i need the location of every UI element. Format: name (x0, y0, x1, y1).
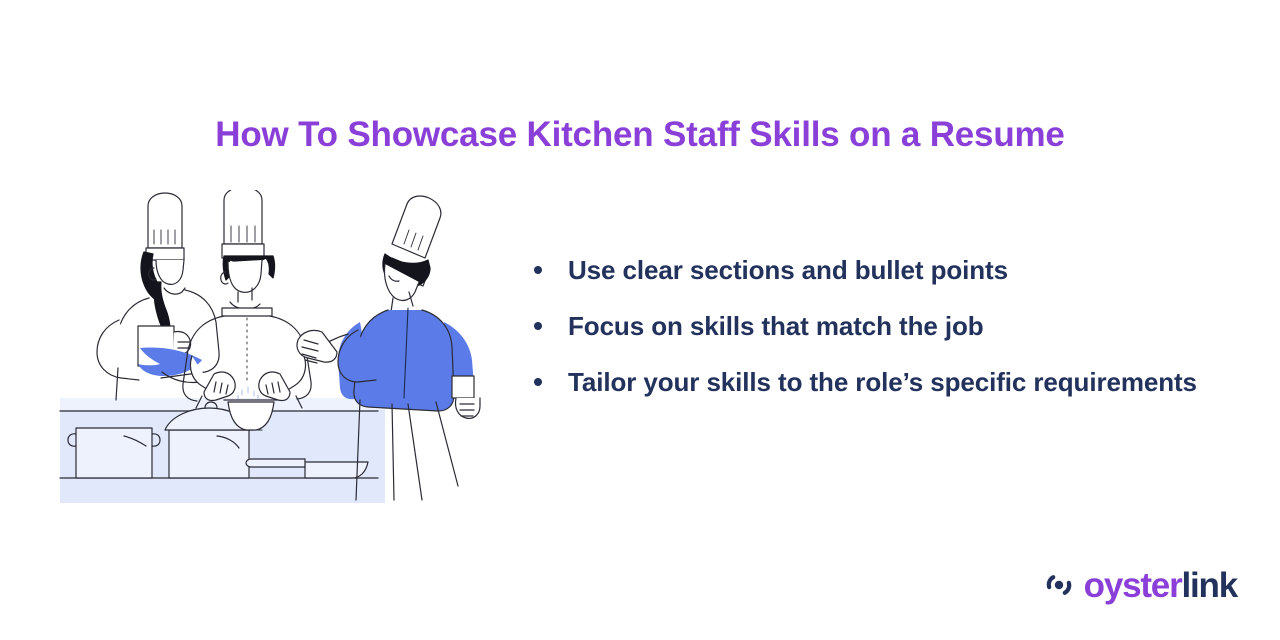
logo-word-oyster: oyster (1084, 566, 1182, 605)
bullet-marker-icon (534, 378, 542, 386)
illustration-svg (52, 190, 522, 520)
key-points-list: Use clear sections and bullet points Foc… (534, 252, 1224, 401)
page-title: How To Showcase Kitchen Staff Skills on … (0, 115, 1280, 155)
stock-pot (68, 428, 160, 478)
chef-left (97, 193, 219, 400)
brand-logo: oysterlink (1043, 562, 1237, 608)
list-item-label: Use clear sections and bullet points (568, 252, 1008, 289)
oyster-spiral-icon (1043, 569, 1075, 601)
logo-wordmark: oysterlink (1084, 568, 1237, 603)
list-item-label: Tailor your skills to the role’s specifi… (568, 364, 1197, 401)
list-item: Tailor your skills to the role’s specifi… (534, 364, 1224, 401)
bullet-marker-icon (534, 266, 542, 274)
kitchen-staff-chefs-illustration (52, 190, 522, 520)
chef-center (183, 190, 311, 430)
page-root: How To Showcase Kitchen Staff Skills on … (0, 0, 1280, 640)
list-item: Use clear sections and bullet points (534, 252, 1224, 289)
bullet-marker-icon (534, 322, 542, 330)
list-item-label: Focus on skills that match the job (568, 308, 984, 345)
list-item: Focus on skills that match the job (534, 308, 1224, 345)
logo-word-link: link (1182, 566, 1238, 605)
